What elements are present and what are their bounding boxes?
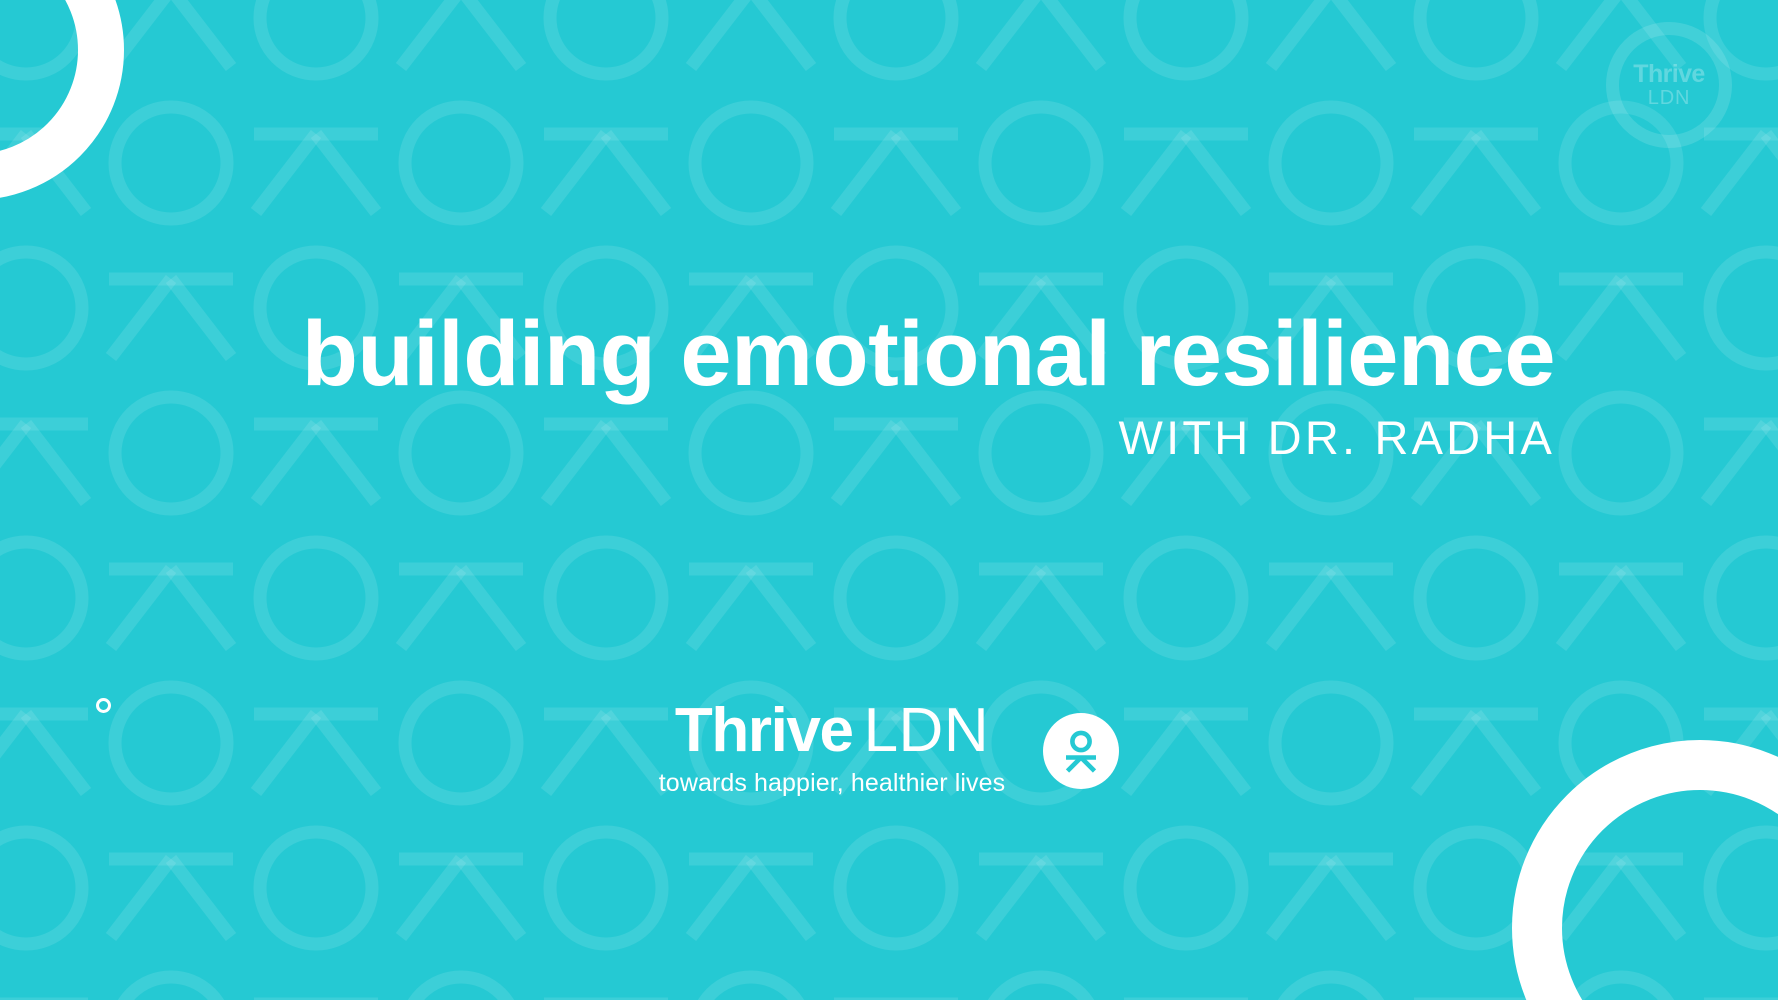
logo-ldn-label: LDN bbox=[864, 700, 990, 762]
watermark-ldn-label: LDN bbox=[1648, 88, 1690, 108]
slide-subtitle: WITH DR. RADHA bbox=[0, 412, 1555, 464]
slide-title: building emotional resilience bbox=[0, 308, 1555, 402]
decorative-ring-top-left bbox=[0, 0, 124, 200]
logo-wordmark-group: Thrive LDN towards happier, healthier li… bbox=[659, 700, 1005, 798]
thrive-ldn-watermark: Thrive LDN bbox=[1606, 22, 1732, 148]
logo-wordmark: Thrive LDN bbox=[659, 700, 1005, 762]
watermark-text: Thrive LDN bbox=[1606, 22, 1732, 148]
watermark-ring-icon bbox=[1606, 22, 1732, 148]
logo-thrive-label: Thrive bbox=[675, 700, 853, 762]
thrive-person-badge bbox=[1043, 713, 1119, 789]
thrive-ldn-logo-lockup: Thrive LDN towards happier, healthier li… bbox=[0, 700, 1778, 798]
slide-canvas: Thrive LDN building emotional resilience… bbox=[0, 0, 1778, 1000]
headline-block: building emotional resilience WITH DR. R… bbox=[0, 308, 1555, 464]
watermark-thrive-label: Thrive bbox=[1633, 62, 1704, 87]
background-pattern bbox=[0, 0, 1778, 1000]
logo-tagline: towards happier, healthier lives bbox=[659, 769, 1005, 798]
thrive-person-icon bbox=[1056, 726, 1106, 776]
logo-i-ring-icon bbox=[96, 698, 111, 713]
